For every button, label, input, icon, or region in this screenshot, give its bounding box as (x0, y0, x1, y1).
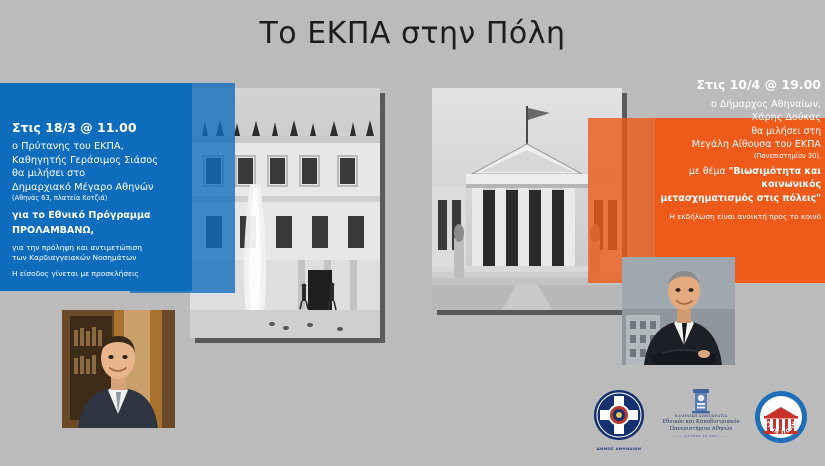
left-event-headline: Στις 18/3 @ 11.00 (12, 119, 187, 136)
logo-university-of-athens: ΕΛΛΗΝΙΚΗ ΔΗΜΟΚΡΑΤΙΑ Εθνικόν και Καποδιστ… (655, 388, 747, 450)
right-event-headline: Στις 10/4 @ 19.00 (629, 76, 821, 94)
right-event-note: Η εκδήλωση είναι ανοικτή προς το κοινό (629, 212, 821, 223)
left-event-address: (Αθηνάς 63, πλατεία Κοτζιά) (12, 194, 187, 203)
right-event-speaker: Χάρης Δούκας (629, 111, 821, 125)
uoa-name-line1: Εθνικόν και Καποδιστριακόν (655, 419, 747, 426)
page-title: Το ΕΚΠΑ στην Πόλη (0, 16, 825, 51)
uoa-emblem-icon (690, 388, 712, 414)
logo-row: ΔΗΜΟΣ ΑΘΗΝΑΙΩΝ ΕΛΛΗΝΙΚΗ ΔΗΜΟΚΡΑΤΙΑ Εθνικ… (580, 386, 825, 458)
logo-ekpa-stin-poli: ΤΟ ΕΚΠΑ ΣΤΗΝ ΠΟΛΗ (752, 388, 810, 446)
left-event-composition: Στις 18/3 @ 11.00 ο Πρύτανης του ΕΚΠΑ, Κ… (0, 60, 420, 420)
right-event-theme-row: με θέμα "Βιωσιμότητα και κοινωνικός (629, 165, 821, 191)
uoa-name-line2: Πανεπιστήμιον Αθηνών (655, 426, 747, 433)
right-event-theme-line2: μετασχηματισμός στις πόλεις" (629, 192, 821, 205)
left-event-detail2: των Καρδιαγγειακών Νοσημάτων (12, 253, 187, 263)
right-event-line1: ο Δήμαρχος Αθηναίων, (629, 98, 821, 112)
ekpa-stin-poli-icon: ΤΟ ΕΚΠΑ ΣΤΗΝ ΠΟΛΗ (752, 388, 810, 446)
left-event-line2: Καθηγητής Γεράσιμος Σιάσος (12, 154, 187, 168)
left-event-note: Η είσοδος γίνεται με προσκλήσεις (12, 269, 187, 279)
portrait-mayor (622, 257, 735, 365)
right-event-venue: Μεγάλη Αίθουσα του ΕΚΠΑ (629, 138, 821, 152)
logo-city-of-athens: ΔΗΜΟΣ ΑΘΗΝΑΙΩΝ (588, 388, 650, 450)
uoa-founded-line: —— ΙΔΡΥΘΕΝ ΤΟ 1837 —— (655, 434, 747, 438)
right-event-theme-line1: "Βιωσιμότητα και κοινωνικός (729, 166, 821, 190)
left-event-panel: Στις 18/3 @ 11.00 ο Πρύτανης του ΕΚΠΑ, Κ… (0, 83, 192, 291)
left-event-program-name: ΠΡΟΛΑΜΒΑΝΩ, (12, 224, 187, 237)
city-of-athens-seal-icon (588, 388, 650, 444)
rector-portrait-illustration (62, 310, 175, 428)
left-event-line1: ο Πρύτανης του ΕΚΠΑ, (12, 140, 187, 154)
left-event-detail1: για την πρόληψη και αντιμετώπιση (12, 243, 187, 253)
left-event-text: Στις 18/3 @ 11.00 ο Πρύτανης του ΕΚΠΑ, Κ… (12, 119, 187, 280)
portrait-rector (62, 310, 175, 428)
mayor-portrait-illustration (622, 257, 735, 365)
right-event-text: Στις 10/4 @ 19.00 ο Δήμαρχος Αθηναίων, Χ… (629, 76, 821, 222)
right-event-theme-prefix: με θέμα (689, 166, 726, 177)
left-event-line3: θα μιλήσει στο (12, 167, 187, 181)
left-event-venue: Δημαρχιακό Μέγαρο Αθηνών (12, 181, 187, 195)
poster-canvas: Το ΕΚΠΑ στην Πόλη (0, 0, 825, 466)
city-of-athens-caption: ΔΗΜΟΣ ΑΘΗΝΑΙΩΝ (588, 446, 650, 451)
right-event-composition: Στις 10/4 @ 19.00 ο Δήμαρχος Αθηναίων, Χ… (410, 60, 825, 405)
right-event-address: (Πανεπιστημίου 30), (629, 152, 821, 161)
left-event-program-line1: για το Εθνικό Πρόγραμμα (12, 209, 187, 222)
right-event-line3: θα μιλήσει στη (629, 125, 821, 138)
